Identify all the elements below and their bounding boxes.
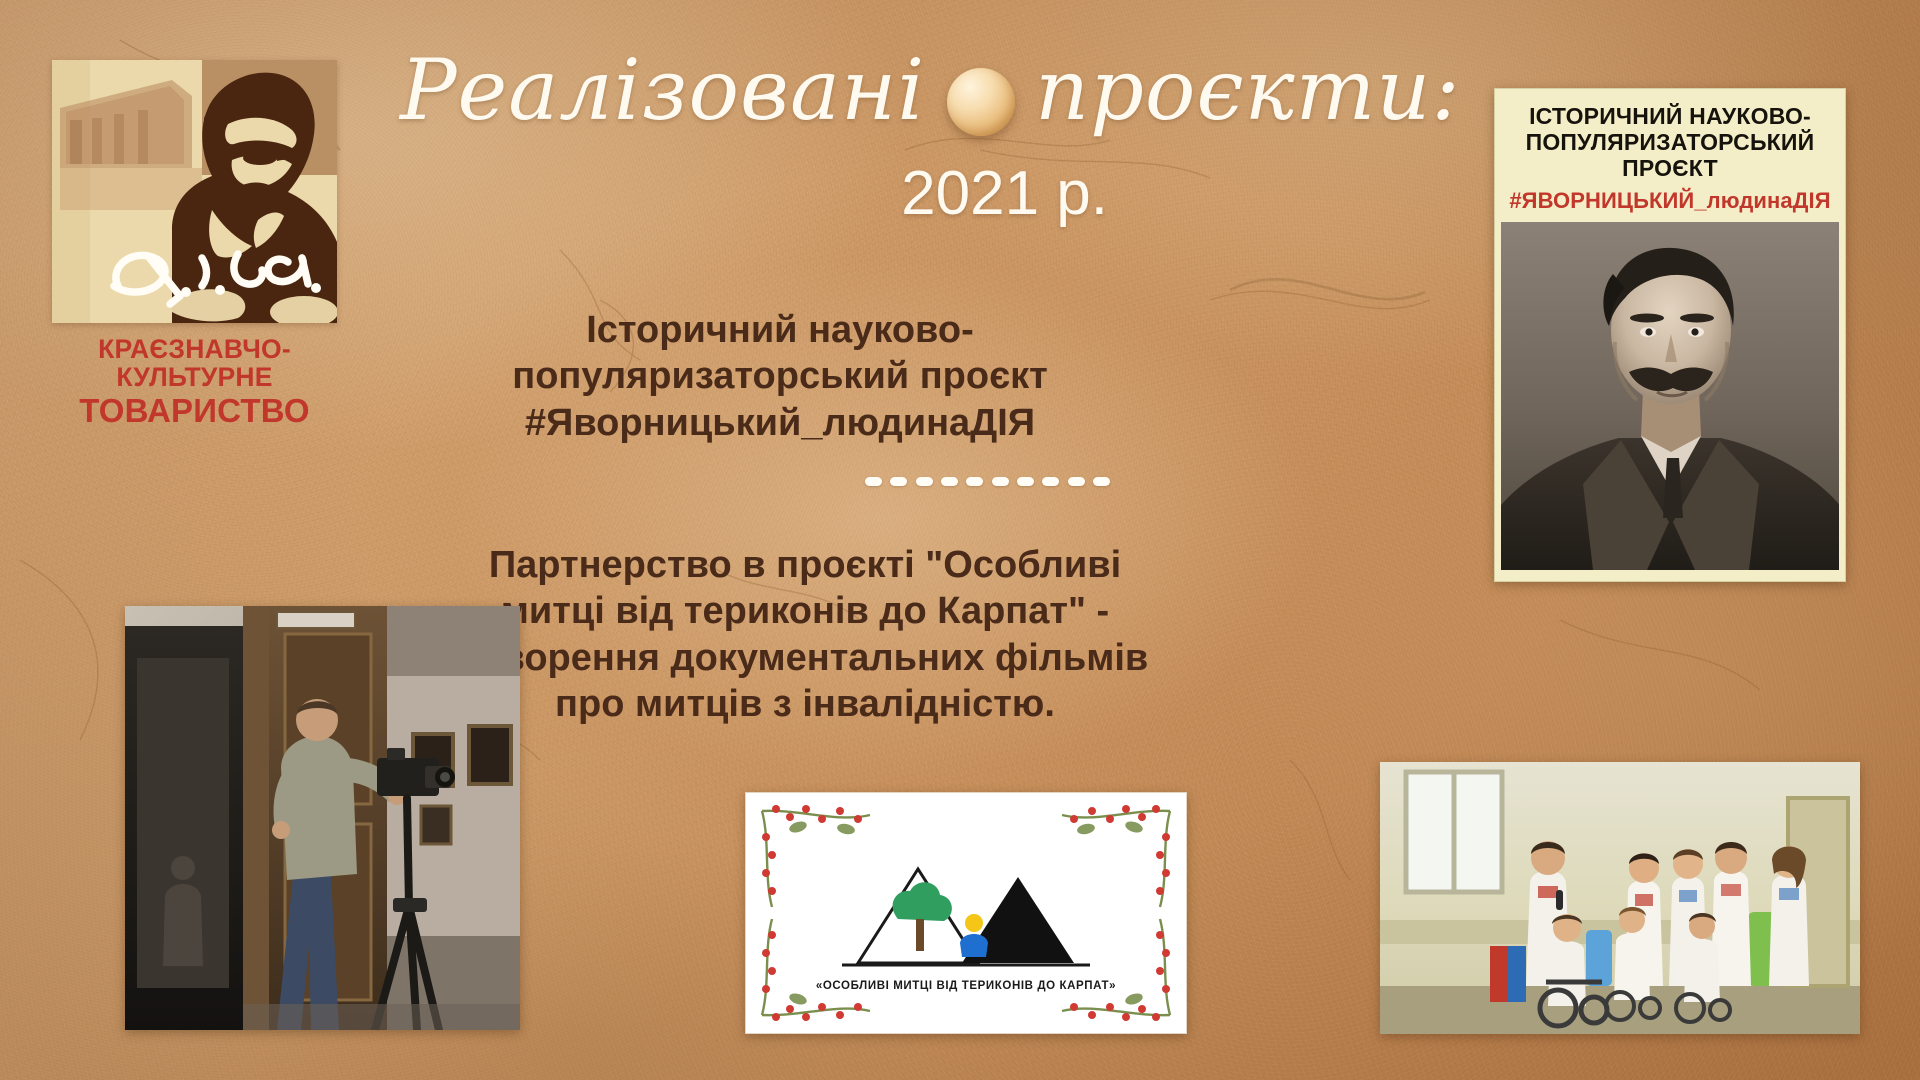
title-word-realizovani: Реалізовані: [400, 24, 925, 156]
logo-caption-line-2: ТОВАРИСТВО: [52, 394, 337, 429]
poster-headline-line-3: ПРОЄКТ: [1503, 155, 1837, 181]
presentation-slide: Д.І.Я. КРАЄЗНАВЧО-КУЛЬТУРНЕ ТОВАРИСТВО Р…: [0, 0, 1920, 1080]
photo-cameraman: [125, 606, 520, 1030]
film-project-logo: «ОСОБЛИВІ МИТЦІ ВІД ТЕРИКОНІВ ДО КАРПАТ»…: [745, 792, 1187, 1034]
poster-hashtag: #ЯВОРНИЦЬКИЙ_людинаДІЯ: [1495, 188, 1845, 214]
poster-headline: ІСТОРИЧНИЙ НАУКОВО- ПОПУЛЯРИЗАТОРСЬКИЙ П…: [1495, 89, 1845, 181]
poster-headline-line-1: ІСТОРИЧНИЙ НАУКОВО-: [1503, 103, 1837, 129]
yavornytskyi-portrait: [1501, 222, 1839, 570]
decorative-sphere-icon: [947, 68, 1015, 136]
title-word-proekty: проєкти:: [1035, 24, 1461, 156]
photo-group: [1380, 762, 1860, 1034]
slide-title: Реалізовані проєкти:: [400, 24, 1460, 156]
dashed-divider: [865, 476, 1110, 486]
svg-text:«ОСОБЛИВІ МИТЦІ ВІД ТЕРИКОНІВ: «ОСОБЛИВІ МИТЦІ ВІД ТЕРИКОНІВ ДО КАРПАТ»: [816, 980, 1116, 992]
logo-caption: КРАЄЗНАВЧО-КУЛЬТУРНЕ ТОВАРИСТВО: [52, 335, 337, 429]
logo-caption-line-1: КРАЄЗНАВЧО-КУЛЬТУРНЕ: [52, 335, 337, 391]
poster-headline-line-2: ПОПУЛЯРИЗАТОРСЬКИЙ: [1503, 129, 1837, 155]
logo-artwork: Д.І.Я.: [52, 60, 337, 323]
project-description-2: Партнерство в проєкті "Особливі митці ві…: [455, 542, 1155, 727]
organization-logo: Д.І.Я. КРАЄЗНАВЧО-КУЛЬТУРНЕ ТОВАРИСТВО: [52, 60, 337, 429]
yavornytskyi-poster: ІСТОРИЧНИЙ НАУКОВО- ПОПУЛЯРИЗАТОРСЬКИЙ П…: [1494, 88, 1846, 582]
project-description-1: Історичний науково-популяризаторський пр…: [395, 307, 1165, 446]
slide-year: 2021 р.: [400, 158, 1108, 229]
